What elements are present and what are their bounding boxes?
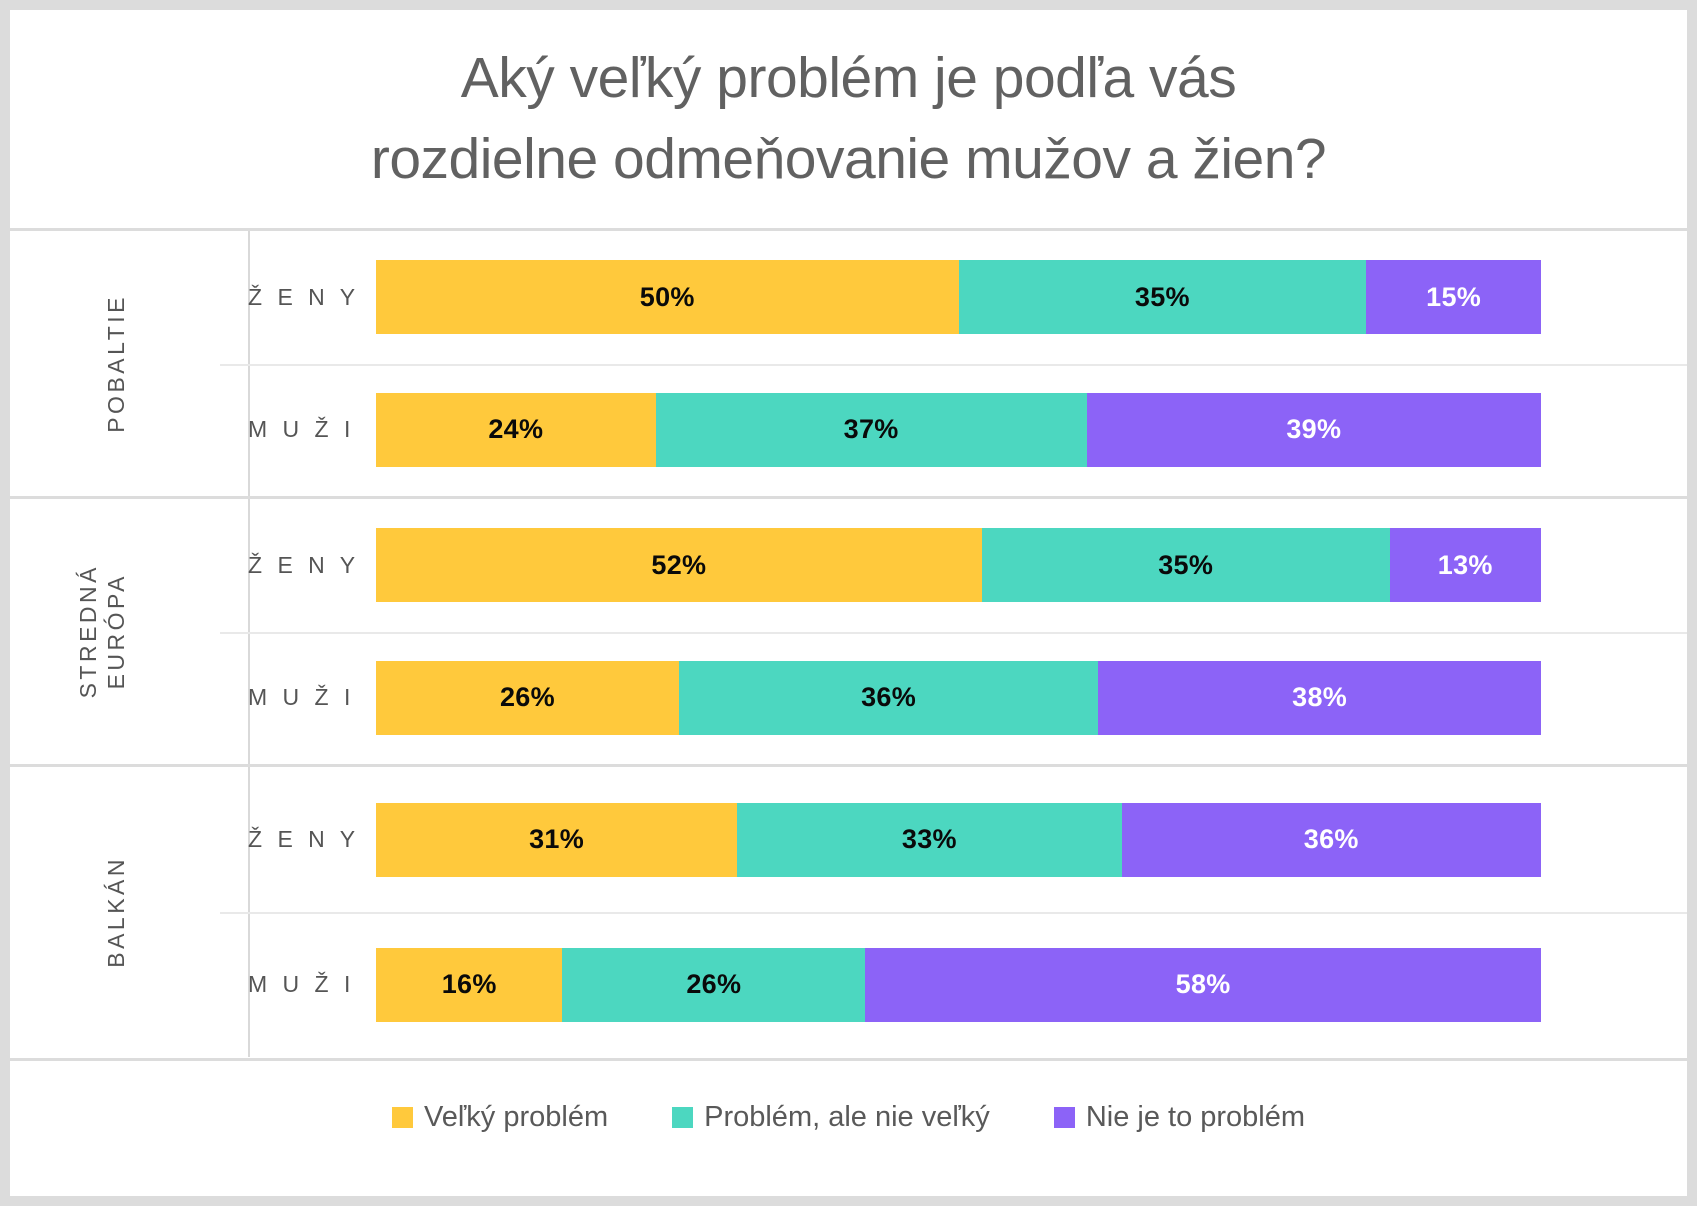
legend-label: Veľký problém — [424, 1101, 608, 1134]
bar-segment-velky-problem[interactable]: 31% — [376, 803, 737, 877]
bar-track: 50% 35% 15% — [376, 231, 1687, 364]
bar-segment-problem-ale-nie-velky[interactable]: 35% — [959, 260, 1367, 334]
bar-track: 16% 26% 58% — [376, 912, 1687, 1057]
bar-segment-problem-ale-nie-velky[interactable]: 33% — [737, 803, 1121, 877]
bar-segment-problem-ale-nie-velky[interactable]: 26% — [562, 948, 865, 1022]
page-title: Aký veľký problém je podľa vás rozdielne… — [371, 38, 1326, 201]
group-label-stredna-europa: STREDNÁ EURÓPA — [72, 564, 130, 698]
stacked-bar: 31% 33% 36% — [376, 803, 1541, 877]
group-label-cell-pobaltie: POBALTIE — [10, 231, 248, 496]
stacked-bar: 16% 26% 58% — [376, 948, 1541, 1022]
bar-track: 52% 35% 13% — [376, 499, 1687, 632]
chart-group-pobaltie: POBALTIE Ž E N Y 50% 35% 15% — [10, 228, 1687, 496]
bar-segment-nie-je-to-problem[interactable]: 15% — [1366, 260, 1541, 334]
stacked-bar: 52% 35% 13% — [376, 528, 1541, 602]
chart-row: M U Ž I 24% 37% 39% — [248, 364, 1687, 497]
legend-swatch-icon — [392, 1107, 413, 1128]
bar-segment-velky-problem[interactable]: 24% — [376, 393, 656, 467]
group-rows-stredna-europa: Ž E N Y 52% 35% 13% M U Ž I — [248, 499, 1687, 764]
legend-swatch-icon — [672, 1107, 693, 1128]
chart-row: Ž E N Y 50% 35% 15% — [248, 231, 1687, 364]
bar-segment-nie-je-to-problem[interactable]: 13% — [1390, 528, 1541, 602]
row-label-muzi: M U Ž I — [248, 416, 376, 443]
legend-swatch-icon — [1054, 1107, 1075, 1128]
bar-segment-problem-ale-nie-velky[interactable]: 35% — [982, 528, 1390, 602]
group-label-cell-balkan: BALKÁN — [10, 767, 248, 1057]
row-label-zeny: Ž E N Y — [248, 284, 376, 311]
stacked-bar: 24% 37% 39% — [376, 393, 1541, 467]
stacked-bar: 26% 36% 38% — [376, 661, 1541, 735]
chart-row: M U Ž I 16% 26% 58% — [248, 912, 1687, 1057]
stacked-bar: 50% 35% 15% — [376, 260, 1541, 334]
title-area: Aký veľký problém je podľa vás rozdielne… — [10, 10, 1687, 228]
chart-row: Ž E N Y 52% 35% 13% — [248, 499, 1687, 632]
chart-plot-area: POBALTIE Ž E N Y 50% 35% 15% — [10, 228, 1687, 1058]
bar-track: 24% 37% 39% — [376, 364, 1687, 497]
bar-track: 31% 33% 36% — [376, 767, 1687, 912]
bar-segment-problem-ale-nie-velky[interactable]: 36% — [679, 661, 1098, 735]
bar-segment-velky-problem[interactable]: 26% — [376, 661, 679, 735]
legend-item-problem-ale-nie-velky[interactable]: Problém, ale nie veľký — [672, 1101, 990, 1134]
chart-page: Aký veľký problém je podľa vás rozdielne… — [0, 0, 1697, 1206]
bar-segment-nie-je-to-problem[interactable]: 38% — [1098, 661, 1541, 735]
group-rows-pobaltie: Ž E N Y 50% 35% 15% M U Ž I — [248, 231, 1687, 496]
chart-group-stredna-europa: STREDNÁ EURÓPA Ž E N Y 52% 35% 13% — [10, 496, 1687, 764]
group-label-cell-stredna-europa: STREDNÁ EURÓPA — [10, 499, 248, 764]
bar-track: 26% 36% 38% — [376, 632, 1687, 765]
row-label-muzi: M U Ž I — [248, 684, 376, 711]
bar-segment-nie-je-to-problem[interactable]: 39% — [1087, 393, 1541, 467]
bar-segment-velky-problem[interactable]: 50% — [376, 260, 959, 334]
row-label-zeny: Ž E N Y — [248, 826, 376, 853]
legend-label: Problém, ale nie veľký — [704, 1101, 990, 1134]
legend-item-nie-je-to-problem[interactable]: Nie je to problém — [1054, 1101, 1305, 1134]
bar-segment-problem-ale-nie-velky[interactable]: 37% — [656, 393, 1087, 467]
chart-row: M U Ž I 26% 36% 38% — [248, 632, 1687, 765]
group-rows-balkan: Ž E N Y 31% 33% 36% M U Ž I — [248, 767, 1687, 1057]
legend-item-velky-problem[interactable]: Veľký problém — [392, 1101, 608, 1134]
group-label-pobaltie: POBALTIE — [100, 294, 130, 433]
chart-group-balkan: BALKÁN Ž E N Y 31% 33% 36% — [10, 764, 1687, 1057]
chart-canvas: Aký veľký problém je podľa vás rozdielne… — [10, 10, 1687, 1196]
bar-segment-nie-je-to-problem[interactable]: 36% — [1122, 803, 1541, 877]
bar-segment-nie-je-to-problem[interactable]: 58% — [865, 948, 1541, 1022]
chart-legend: Veľký problém Problém, ale nie veľký Nie… — [10, 1058, 1687, 1196]
row-label-muzi: M U Ž I — [248, 971, 376, 998]
bar-segment-velky-problem[interactable]: 16% — [376, 948, 562, 1022]
chart-row: Ž E N Y 31% 33% 36% — [248, 767, 1687, 912]
legend-label: Nie je to problém — [1086, 1101, 1305, 1134]
group-label-balkan: BALKÁN — [100, 856, 130, 968]
row-label-zeny: Ž E N Y — [248, 552, 376, 579]
bar-segment-velky-problem[interactable]: 52% — [376, 528, 982, 602]
